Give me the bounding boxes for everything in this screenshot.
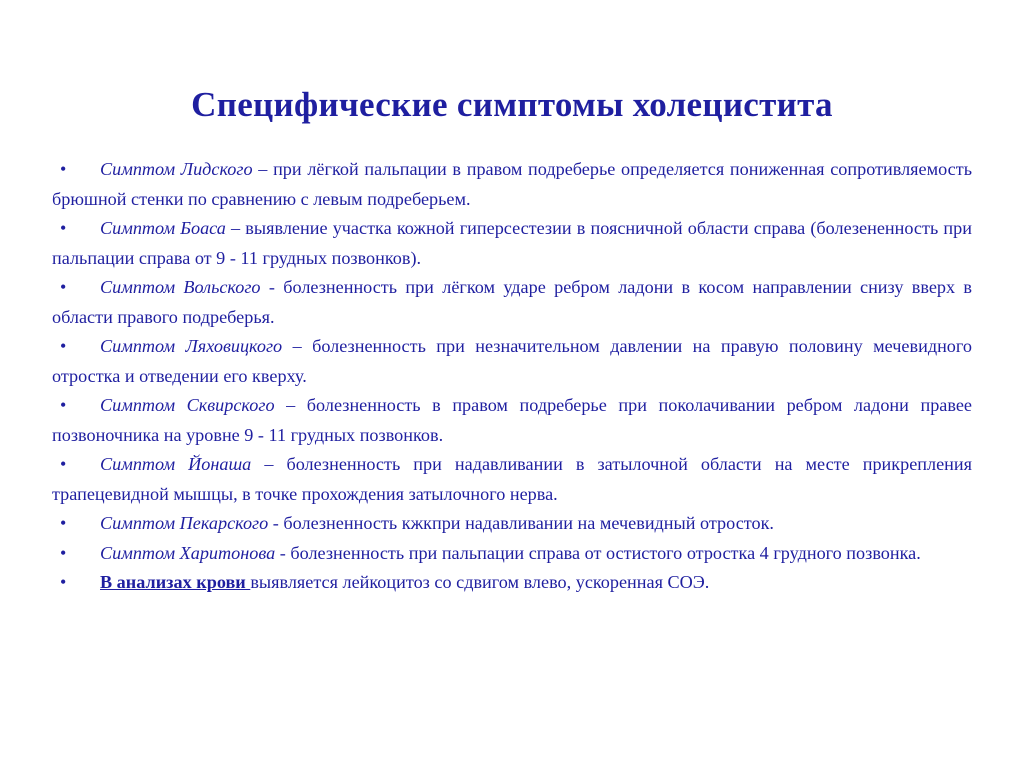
list-item: • Симптом Харитонова - болезненность при… xyxy=(52,539,972,569)
list-item: • Симптом Ляховицкого – болезненность пр… xyxy=(52,332,972,391)
symptom-term: Симптом Вольского xyxy=(100,277,261,297)
bullet-marker: • xyxy=(60,273,66,303)
bullet-marker: • xyxy=(60,450,66,480)
blood-test-text: выявляется лейкоцитоз со сдвигом влево, … xyxy=(250,572,709,592)
list-item-body: Симптом Йонаша – болезненность при надав… xyxy=(52,450,972,509)
list-item-body: Симптом Пекарского - болезненность кжкпр… xyxy=(52,509,972,539)
symptom-text: - болезненность при пальпации справа от … xyxy=(275,543,921,563)
list-item: • Симптом Лидского – при лёгкой пальпаци… xyxy=(52,155,972,214)
slide: Специфические симптомы холецистита • Сим… xyxy=(0,0,1024,767)
bullet-marker: • xyxy=(60,568,66,598)
bullet-marker: • xyxy=(60,332,66,362)
symptom-term: Симптом Ляховицкого xyxy=(100,336,282,356)
bullet-marker: • xyxy=(60,155,66,185)
list-item: • Симптом Боаса – выявление участка кожн… xyxy=(52,214,972,273)
bullet-marker: • xyxy=(60,509,66,539)
bullet-marker: • xyxy=(60,391,66,421)
bullet-list: • Симптом Лидского – при лёгкой пальпаци… xyxy=(52,155,972,598)
list-item-body: Симптом Ляховицкого – болезненность при … xyxy=(52,332,972,391)
symptom-term: Симптом Боаса xyxy=(100,218,226,238)
symptom-text: - болезненность кжкпри надавливании на м… xyxy=(268,513,774,533)
blood-test-term: В анализах крови xyxy=(100,572,250,592)
bullet-marker: • xyxy=(60,539,66,569)
list-item-body: Симптом Боаса – выявление участка кожной… xyxy=(52,214,972,273)
list-item-body: Симптом Лидского – при лёгкой пальпации … xyxy=(52,155,972,214)
symptom-term: Симптом Йонаша xyxy=(100,454,251,474)
list-item: • Симптом Йонаша – болезненность при над… xyxy=(52,450,972,509)
list-item-body: Симптом Вольского - болезненность при лё… xyxy=(52,273,972,332)
list-item: • Симптом Сквирского – болезненность в п… xyxy=(52,391,972,450)
symptom-term: Симптом Харитонова xyxy=(100,543,275,563)
list-item-body: В анализах крови выявляется лейкоцитоз с… xyxy=(52,568,972,598)
list-item: • Симптом Вольского - болезненность при … xyxy=(52,273,972,332)
list-item: • В анализах крови выявляется лейкоцитоз… xyxy=(52,568,972,598)
list-item: • Симптом Пекарского - болезненность кжк… xyxy=(52,509,972,539)
bullet-marker: • xyxy=(60,214,66,244)
symptom-term: Симптом Сквирского xyxy=(100,395,275,415)
symptom-term: Симптом Лидского xyxy=(100,159,253,179)
list-item-body: Симптом Сквирского – болезненность в пра… xyxy=(52,391,972,450)
symptom-term: Симптом Пекарского xyxy=(100,513,268,533)
page-title: Специфические симптомы холецистита xyxy=(0,85,1024,125)
list-item-body: Симптом Харитонова - болезненность при п… xyxy=(52,539,972,569)
